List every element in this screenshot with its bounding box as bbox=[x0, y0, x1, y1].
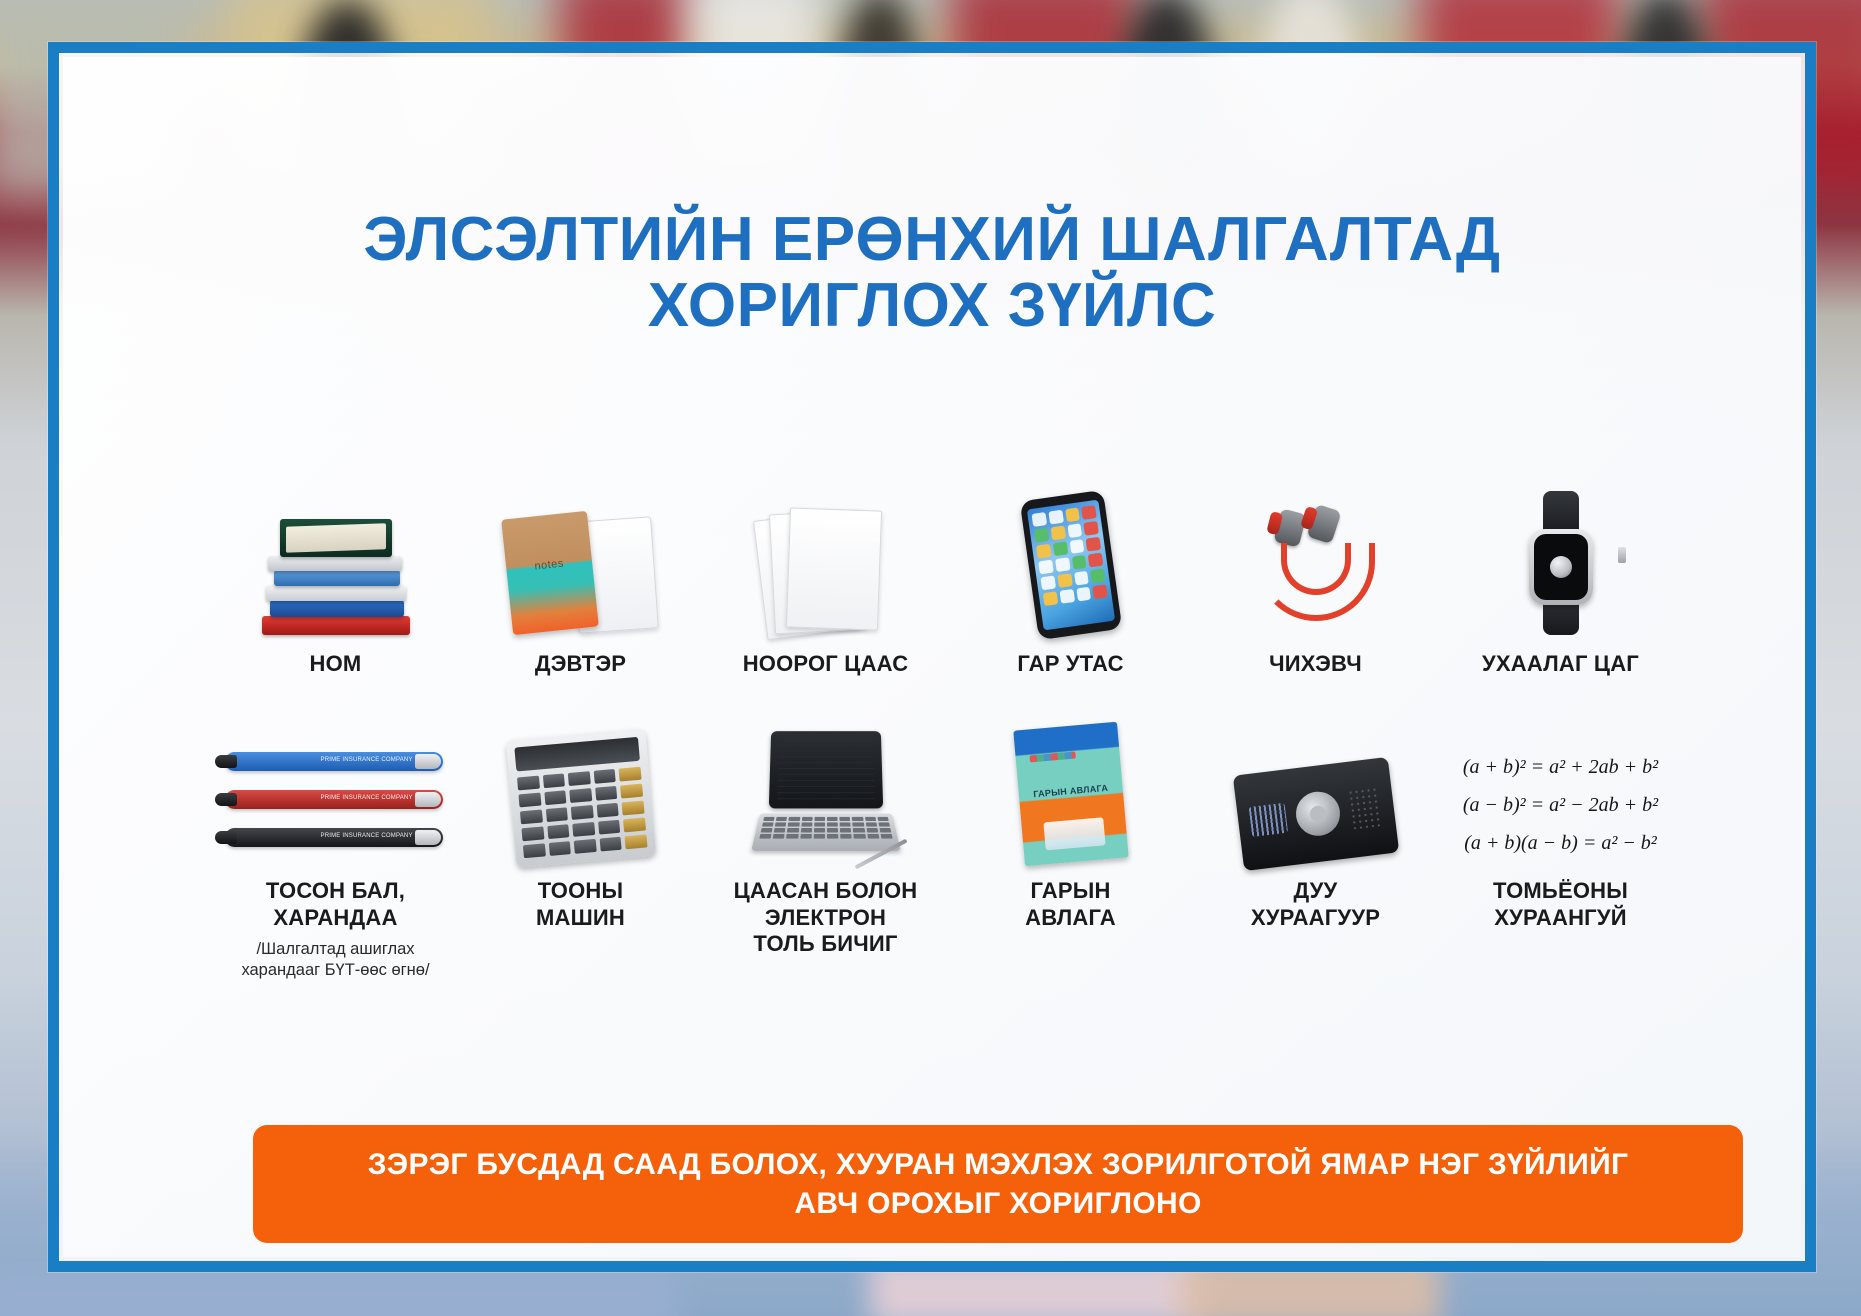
handbook-icon: ГАРЫН АВЛАГА bbox=[948, 712, 1193, 862]
item-garyn-avlaga: ГАРЫН АВЛАГА ГАРЫН АВЛАГА bbox=[948, 712, 1193, 981]
item-label: ГАР УТАС bbox=[1017, 651, 1123, 678]
bg-desk bbox=[0, 1270, 680, 1316]
item-chikhevch: ЧИХЭВЧ bbox=[1193, 487, 1438, 678]
item-tomyoony-khuraangui: (a + b)² = a² + 2ab + b² (a − b)² = a² −… bbox=[1438, 712, 1683, 981]
poster-root: ЭЛСЭЛТИЙН ЕРӨНХИЙ ШАЛГАЛТАД ХОРИГЛОХ ЗҮЙ… bbox=[0, 0, 1861, 1316]
item-duu-khuraaguur: ДУУ ХУРААГУУР bbox=[1193, 712, 1438, 981]
item-label: ЦААСАН БОЛОН ЭЛЕКТРОН ТОЛЬ БИЧИГ bbox=[734, 878, 918, 958]
formula-sheet-icon: (a + b)² = a² + 2ab + b² (a − b)² = a² −… bbox=[1438, 712, 1683, 862]
voice-recorder-icon bbox=[1193, 712, 1438, 862]
mobile-phone-icon bbox=[948, 487, 1193, 635]
page-title: ЭЛСЭЛТИЙН ЕРӨНХИЙ ШАЛГАЛТАД ХОРИГЛОХ ЗҮЙ… bbox=[63, 207, 1801, 338]
handbook-cover-text: ГАРЫН АВЛАГА bbox=[1018, 781, 1122, 800]
calculator-icon bbox=[458, 712, 703, 862]
pen-imprint-text: PRIME INSURANCE COMPANY bbox=[321, 795, 413, 801]
earphones-icon bbox=[1193, 487, 1438, 635]
item-label: НОМ bbox=[310, 651, 362, 678]
pen-imprint-text: PRIME INSURANCE COMPANY bbox=[321, 833, 413, 839]
item-nom: НОМ bbox=[213, 487, 458, 678]
item-label: ТООНЫ МАШИН bbox=[536, 878, 625, 932]
pens-and-pencils-icon: PRIME INSURANCE COMPANY PRIME INSURANCE … bbox=[213, 712, 458, 862]
item-noorog-tsaas: НООРОГ ЦААС bbox=[703, 487, 948, 678]
formula-line: (a − b)² = a² − 2ab + b² bbox=[1438, 786, 1683, 824]
item-devter: notes ДЭВТЭР bbox=[458, 487, 703, 678]
item-label: ДУУ ХУРААГУУР bbox=[1251, 878, 1380, 932]
item-label: УХААЛАГ ЦАГ bbox=[1482, 651, 1639, 678]
notebook-cover-text: notes bbox=[505, 555, 592, 576]
smart-watch-icon bbox=[1438, 487, 1683, 635]
electronic-dictionary-icon bbox=[703, 712, 948, 862]
formula-line: (a + b)² = a² + 2ab + b² bbox=[1438, 748, 1683, 786]
item-label: ТОМЬЁОНЫ ХУРААНГУЙ bbox=[1493, 878, 1628, 932]
title-line-2: ХОРИГЛОХ ЗҮЙЛС bbox=[63, 273, 1801, 339]
item-label: ГАРЫН АВЛАГА bbox=[1025, 878, 1116, 932]
item-gar-utas: ГАР УТАС bbox=[948, 487, 1193, 678]
stack-of-books-icon bbox=[213, 487, 458, 635]
prohibited-items-grid: НОМ notes ДЭВТЭР bbox=[213, 487, 1683, 981]
poster-card-inner: ЭЛСЭЛТИЙН ЕРӨНХИЙ ШАЛГАЛТАД ХОРИГЛОХ ЗҮЙ… bbox=[63, 57, 1801, 1257]
title-line-1: ЭЛСЭЛТИЙН ЕРӨНХИЙ ШАЛГАЛТАД bbox=[63, 207, 1801, 273]
warning-banner: ЗЭРЭГ БУСДАД СААД БОЛОХ, ХУУРАН МЭХЛЭХ З… bbox=[253, 1125, 1743, 1243]
item-note: /Шалгалтад ашиглах харандааг БҮТ-өөс өгн… bbox=[241, 939, 429, 980]
item-toony-mashin: ТООНЫ МАШИН bbox=[458, 712, 703, 981]
item-ukhaalag-tsag: УХААЛАГ ЦАГ bbox=[1438, 487, 1683, 678]
item-label: ДЭВТЭР bbox=[535, 651, 626, 678]
blank-paper-sheets-icon bbox=[703, 487, 948, 635]
item-label: ЧИХЭВЧ bbox=[1269, 651, 1362, 678]
item-label: НООРОГ ЦААС bbox=[743, 651, 909, 678]
pen-imprint-text: PRIME INSURANCE COMPANY bbox=[321, 757, 413, 763]
item-label: ТОСОН БАЛ, ХАРАНДАА bbox=[266, 878, 405, 932]
item-tol-bichig: ЦААСАН БОЛОН ЭЛЕКТРОН ТОЛЬ БИЧИГ bbox=[703, 712, 948, 981]
poster-card: ЭЛСЭЛТИЙН ЕРӨНХИЙ ШАЛГАЛТАД ХОРИГЛОХ ЗҮЙ… bbox=[48, 42, 1816, 1272]
notebook-icon: notes bbox=[458, 487, 703, 635]
formula-line: (a + b)(a − b) = a² − b² bbox=[1438, 824, 1683, 862]
warning-banner-text: ЗЭРЭГ БУСДАД СААД БОЛОХ, ХУУРАН МЭХЛЭХ З… bbox=[368, 1145, 1629, 1223]
item-toson-bal-kharandaa: PRIME INSURANCE COMPANY PRIME INSURANCE … bbox=[213, 712, 458, 981]
